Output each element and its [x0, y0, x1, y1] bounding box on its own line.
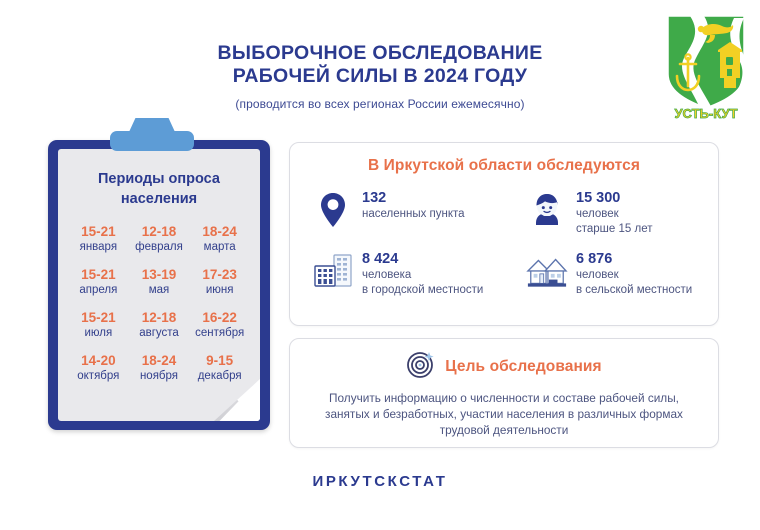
period-range: 17-23 [189, 266, 250, 283]
goal-heading-row: Цель обследования [290, 349, 718, 384]
period-range: 16-22 [189, 309, 250, 326]
stat-text: 6 876 человек в сельской местности [576, 250, 692, 297]
title-line-1: ВЫБОРОЧНОЕ ОБСЛЕДОВАНИЕ [120, 42, 640, 65]
period-range: 12-18 [129, 223, 190, 240]
clipboard-title-line-2: населения [76, 189, 242, 209]
page-subtitle: (проводится во всех регионах России ежем… [120, 97, 640, 111]
logo-caption: УСТЬ-КУТ [674, 106, 737, 120]
region-stats-panel: В Иркутской области обследуются 132 насе… [289, 142, 719, 326]
period-cell: 18-24 ноября [129, 352, 190, 384]
survey-periods-clipboard: Периоды опроса населения 15-21 января 12… [48, 140, 270, 430]
period-month: февраля [129, 240, 190, 255]
stat-text: 132 населенных пункта [362, 189, 465, 222]
period-cell: 16-22 сентября [189, 309, 250, 341]
period-cell: 18-24 марта [189, 223, 250, 255]
period-range: 15-21 [68, 266, 129, 283]
footer-organization: ИРКУТСКСТАТ [0, 473, 760, 490]
stat-label-2: в городской местности [362, 283, 483, 298]
clipboard-clip-top-icon [129, 118, 175, 132]
period-range: 18-24 [129, 352, 190, 369]
period-month: сентября [189, 326, 250, 341]
period-month: октября [68, 369, 129, 384]
stat-value: 8 424 [362, 251, 483, 268]
clipboard-title: Периоды опроса населения [76, 169, 242, 209]
region-stat-grid: 132 населенных пункта 15 300 человек [290, 189, 718, 297]
stat-label: населенных пункта [362, 207, 465, 222]
period-range: 12-18 [129, 309, 190, 326]
period-range: 9-15 [189, 352, 250, 369]
stat-urban: 8 424 человека в городской местности [290, 250, 504, 297]
period-cell: 12-18 февраля [129, 223, 190, 255]
header: ВЫБОРОЧНОЕ ОБСЛЕДОВАНИЕ РАБОЧЕЙ СИЛЫ В 2… [0, 0, 760, 130]
stat-settlements: 132 населенных пункта [290, 189, 504, 236]
clipboard-clip-icon [110, 131, 194, 151]
goal-panel-heading: Цель обследования [445, 358, 601, 376]
page-title: ВЫБОРОЧНОЕ ОБСЛЕДОВАНИЕ РАБОЧЕЙ СИЛЫ В 2… [120, 42, 640, 111]
period-range: 14-20 [68, 352, 129, 369]
survey-goal-panel: Цель обследования Получить информацию о … [289, 338, 719, 448]
period-month: августа [129, 326, 190, 341]
coat-of-arms-icon: УСТЬ-КУТ [660, 12, 752, 120]
period-range: 15-21 [68, 309, 129, 326]
stat-rural: 6 876 человек в сельской местности [504, 250, 718, 297]
target-icon [406, 349, 436, 384]
title-line-2: РАБОЧЕЙ СИЛЫ В 2024 ГОДУ [120, 65, 640, 88]
goal-text-line-1: Получить информацию о численности и сост… [312, 390, 696, 406]
rural-houses-icon [526, 250, 568, 292]
period-cell: 15-21 апреля [68, 266, 129, 298]
period-cell: 14-20 октября [68, 352, 129, 384]
period-month: декабря [189, 369, 250, 384]
period-cell: 12-18 августа [129, 309, 190, 341]
stat-value: 6 876 [576, 251, 692, 268]
goal-text-line-3: трудовой деятельности [312, 422, 696, 438]
period-cell: 15-21 января [68, 223, 129, 255]
clipboard-paper: Периоды опроса населения 15-21 января 12… [58, 149, 260, 421]
period-month: апреля [68, 283, 129, 298]
period-cell: 9-15 декабря [189, 352, 250, 384]
goal-text-line-2: занятых и безработных, участии населения… [312, 406, 696, 422]
person-icon [526, 189, 568, 231]
stat-label: человек [576, 268, 692, 283]
period-cell: 17-23 июня [189, 266, 250, 298]
period-month: марта [189, 240, 250, 255]
stat-label: человек [576, 207, 652, 222]
region-panel-heading: В Иркутской области обследуются [290, 157, 718, 175]
period-month: ноября [129, 369, 190, 384]
period-range: 13-19 [129, 266, 190, 283]
survey-period-grid: 15-21 января 12-18 февраля 18-24 марта 1… [68, 223, 250, 384]
stat-value: 132 [362, 190, 465, 207]
clipboard-title-line-1: Периоды опроса [76, 169, 242, 189]
period-cell: 13-19 мая [129, 266, 190, 298]
period-cell: 15-21 июля [68, 309, 129, 341]
stat-label-2: старше 15 лет [576, 222, 652, 237]
stat-population: 15 300 человек старше 15 лет [504, 189, 718, 236]
period-range: 15-21 [68, 223, 129, 240]
stat-text: 15 300 человек старше 15 лет [576, 189, 652, 236]
period-month: мая [129, 283, 190, 298]
period-month: января [68, 240, 129, 255]
stat-text: 8 424 человека в городской местности [362, 250, 483, 297]
period-month: июля [68, 326, 129, 341]
location-pin-icon [312, 189, 354, 231]
ust-kut-logo: УСТЬ-КУТ [660, 12, 752, 120]
goal-description: Получить информацию о численности и сост… [312, 390, 696, 438]
stat-value: 15 300 [576, 190, 652, 207]
stat-label: человека [362, 268, 483, 283]
city-buildings-icon [312, 250, 354, 292]
stat-label-2: в сельской местности [576, 283, 692, 298]
period-month: июня [189, 283, 250, 298]
period-range: 18-24 [189, 223, 250, 240]
